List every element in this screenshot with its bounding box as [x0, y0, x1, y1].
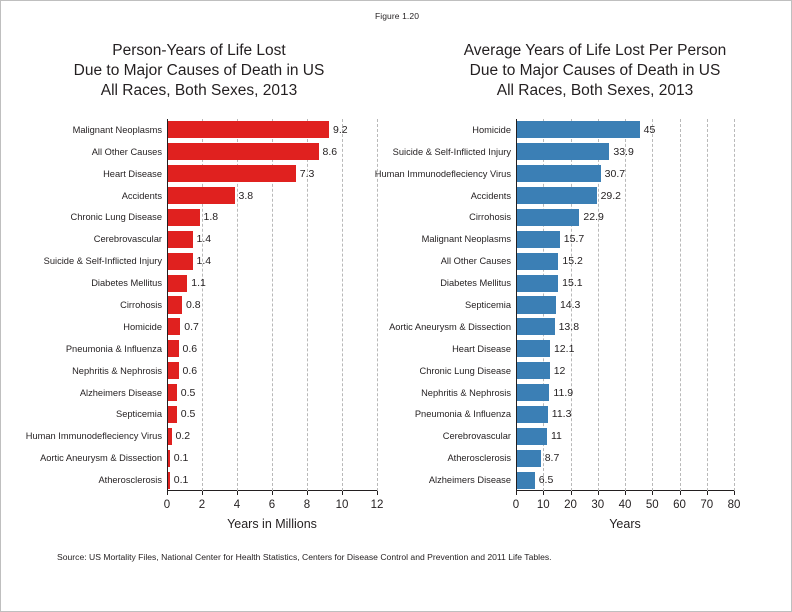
bar[interactable] — [168, 121, 329, 138]
category-label: Suicide & Self-Inflicted Injury — [393, 147, 511, 157]
bar-row[interactable]: Chronic Lung Disease1.8 — [167, 209, 377, 226]
bar[interactable] — [517, 253, 558, 270]
bar-row[interactable]: Suicide & Self-Inflicted Injury1.4 — [167, 253, 377, 270]
chart-title-left: Person-Years of Life Lost Due to Major C… — [1, 41, 397, 101]
category-label: Aortic Aneurysm & Dissection — [389, 322, 511, 332]
bar-value-label: 6.5 — [535, 474, 554, 486]
bar-value-label: 0.5 — [177, 408, 196, 420]
bar-value-label: 0.2 — [172, 430, 191, 442]
bar-value-label: 8.7 — [541, 452, 560, 464]
x-axis-tick-right — [516, 491, 517, 495]
bar-row[interactable]: Suicide & Self-Inflicted Injury33.9 — [516, 143, 734, 160]
x-axis-tick-label-right: 60 — [673, 499, 686, 511]
bar-value-label: 0.7 — [180, 321, 199, 333]
bar-row[interactable]: Cerebrovascular1.4 — [167, 231, 377, 248]
bar[interactable] — [517, 275, 558, 292]
category-label: Cirrohosis — [120, 300, 162, 310]
bar-row[interactable]: Pneumonia & Influenza0.6 — [167, 340, 377, 357]
bar[interactable] — [517, 362, 550, 379]
category-label: Heart Disease — [452, 344, 511, 354]
x-axis-tick-label-left: 12 — [371, 499, 384, 511]
chart-panel-average-years: Average Years of Life Lost Per Person Du… — [397, 41, 792, 541]
bar-row[interactable]: Human Immunodefleciency Virus30.7 — [516, 165, 734, 182]
bar-row[interactable]: Alzheimers Disease6.5 — [516, 472, 734, 489]
bar-row[interactable]: Heart Disease7.3 — [167, 165, 377, 182]
category-label: Septicemia — [116, 409, 162, 419]
bar-row[interactable]: Accidents3.8 — [167, 187, 377, 204]
bar-value-label: 1.4 — [193, 233, 212, 245]
bar[interactable] — [517, 384, 549, 401]
category-label: Alzheimers Disease — [80, 388, 162, 398]
bar-value-label: 14.3 — [556, 299, 580, 311]
category-label: Cirrohosis — [469, 212, 511, 222]
bar-value-label: 12 — [550, 365, 566, 377]
bar[interactable] — [168, 209, 200, 226]
x-axis-tick-right — [543, 491, 544, 495]
x-axis-title-left: Years in Millions — [167, 517, 377, 531]
bar[interactable] — [168, 340, 179, 357]
category-label: Atherosclerosis — [447, 453, 511, 463]
bar[interactable] — [168, 253, 193, 270]
bar-row[interactable]: Homicide45 — [516, 121, 734, 138]
bar-row[interactable]: Accidents29.2 — [516, 187, 734, 204]
category-label: Accidents — [471, 191, 511, 201]
bar-value-label: 15.2 — [558, 255, 582, 267]
bar-value-label: 9.2 — [329, 124, 348, 136]
category-label: Homicide — [472, 125, 511, 135]
bar-value-label: 22.9 — [579, 211, 603, 223]
bar[interactable] — [517, 450, 541, 467]
x-axis-tick-label-left: 10 — [336, 499, 349, 511]
bar-row[interactable]: Diabetes Mellitus15.1 — [516, 275, 734, 292]
category-label: Malignant Neoplasms — [422, 234, 511, 244]
bar-value-label: 0.1 — [170, 452, 189, 464]
bar-row[interactable]: Chronic Lung Disease12 — [516, 362, 734, 379]
bar-row[interactable]: Aortic Aneurysm & Dissection0.1 — [167, 450, 377, 467]
bar-value-label: 8.6 — [319, 146, 338, 158]
x-axis-tick-right — [571, 491, 572, 495]
source-note: Source: US Mortality Files, National Cen… — [57, 552, 552, 562]
category-label: Atherosclerosis — [98, 475, 162, 485]
figure-number-label: Figure 1.20 — [1, 11, 792, 21]
category-label: Diabetes Mellitus — [440, 278, 511, 288]
gridline — [734, 119, 735, 491]
bar-row[interactable]: Septicemia14.3 — [516, 296, 734, 313]
bar-value-label: 0.5 — [177, 387, 196, 399]
x-axis-tick-label-right: 0 — [513, 499, 519, 511]
category-label: Septicemia — [465, 300, 511, 310]
x-axis-tick-label-right: 40 — [619, 499, 632, 511]
category-label: Accidents — [122, 191, 162, 201]
x-axis-tick-right — [734, 491, 735, 495]
bar[interactable] — [168, 296, 182, 313]
bar-row[interactable]: Aortic Aneurysm & Dissection13.8 — [516, 318, 734, 335]
x-axis-tick-label-left: 6 — [269, 499, 275, 511]
bar-value-label: 11.9 — [549, 387, 573, 399]
bar[interactable] — [168, 143, 319, 160]
bar-row[interactable]: Homicide0.7 — [167, 318, 377, 335]
bar-value-label: 1.1 — [187, 277, 206, 289]
bar[interactable] — [517, 187, 597, 204]
bar-value-label: 0.6 — [179, 365, 198, 377]
bar-value-label: 33.9 — [609, 146, 633, 158]
category-label: Human Immunodefleciency Virus — [26, 431, 162, 441]
bar[interactable] — [168, 231, 193, 248]
bar-row[interactable]: Septicemia0.5 — [167, 406, 377, 423]
x-axis-tick-left — [342, 491, 343, 495]
x-axis-tick-left — [272, 491, 273, 495]
category-label: Homicide — [123, 322, 162, 332]
x-axis-tick-label-left: 4 — [234, 499, 240, 511]
bar[interactable] — [517, 209, 579, 226]
bar[interactable] — [168, 165, 296, 182]
bar-value-label: 0.8 — [182, 299, 201, 311]
bar-row[interactable]: Malignant Neoplasms9.2 — [167, 121, 377, 138]
x-axis-tick-label-left: 8 — [304, 499, 310, 511]
x-axis-tick-left — [237, 491, 238, 495]
bar-value-label: 30.7 — [601, 168, 625, 180]
x-axis-tick-right — [680, 491, 681, 495]
bar-value-label: 7.3 — [296, 168, 315, 180]
category-label: Diabetes Mellitus — [91, 278, 162, 288]
bar[interactable] — [517, 340, 550, 357]
chart-panel-person-years: Person-Years of Life Lost Due to Major C… — [1, 41, 397, 541]
bar[interactable] — [517, 143, 609, 160]
x-axis-tick-left — [167, 491, 168, 495]
bar[interactable] — [168, 275, 187, 292]
x-axis-tick-right — [625, 491, 626, 495]
x-axis-tick-right — [707, 491, 708, 495]
bar-row[interactable]: Nephritis & Nephrosis11.9 — [516, 384, 734, 401]
bar[interactable] — [517, 318, 555, 335]
bar-value-label: 29.2 — [597, 190, 621, 202]
bar-row[interactable]: Cirrohosis22.9 — [516, 209, 734, 226]
category-label: Nephritis & Nephrosis — [421, 388, 511, 398]
bar[interactable] — [168, 362, 179, 379]
bar-row[interactable]: Atherosclerosis8.7 — [516, 450, 734, 467]
bar[interactable] — [517, 296, 556, 313]
bar[interactable] — [168, 384, 177, 401]
bar-row[interactable]: Cirrohosis0.8 — [167, 296, 377, 313]
x-axis-tick-label-left: 2 — [199, 499, 205, 511]
category-label: Heart Disease — [103, 169, 162, 179]
bar-value-label: 15.7 — [560, 233, 584, 245]
bar-row[interactable]: Diabetes Mellitus1.1 — [167, 275, 377, 292]
bar[interactable] — [517, 472, 535, 489]
bar-row[interactable]: Alzheimers Disease0.5 — [167, 384, 377, 401]
category-label: Chronic Lung Disease — [71, 212, 162, 222]
x-axis-tick-label-right: 50 — [646, 499, 659, 511]
bar-value-label: 3.8 — [235, 190, 254, 202]
category-label: Alzheimers Disease — [429, 475, 511, 485]
category-label: Human Immunodefleciency Virus — [375, 169, 511, 179]
x-axis-tick-left — [377, 491, 378, 495]
bar-value-label: 11 — [547, 430, 562, 442]
bar-row[interactable]: Nephritis & Nephrosis0.6 — [167, 362, 377, 379]
category-label: All Other Causes — [92, 147, 162, 157]
bar[interactable] — [517, 165, 601, 182]
bar-row[interactable]: Heart Disease12.1 — [516, 340, 734, 357]
x-axis-tick-label-right: 20 — [564, 499, 577, 511]
bar[interactable] — [517, 428, 547, 445]
category-label: Suicide & Self-Inflicted Injury — [44, 256, 162, 266]
category-label: Cerebrovascular — [443, 431, 511, 441]
bar-row[interactable]: Malignant Neoplasms15.7 — [516, 231, 734, 248]
x-axis-title-right: Years — [516, 517, 734, 531]
bar[interactable] — [168, 187, 235, 204]
bar[interactable] — [517, 121, 640, 138]
chart-title-right: Average Years of Life Lost Per Person Du… — [397, 41, 792, 101]
category-label: Chronic Lung Disease — [420, 366, 511, 376]
x-axis-tick-label-right: 70 — [700, 499, 713, 511]
bar-value-label: 1.4 — [193, 255, 212, 267]
bar[interactable] — [517, 231, 560, 248]
bar-row[interactable]: Pneumonia & Influenza11.3 — [516, 406, 734, 423]
bar-row[interactable]: Cerebrovascular11 — [516, 428, 734, 445]
bar-row[interactable]: All Other Causes8.6 — [167, 143, 377, 160]
category-label: Cerebrovascular — [94, 234, 162, 244]
x-axis-tick-label-right: 10 — [537, 499, 550, 511]
category-label: All Other Causes — [441, 256, 511, 266]
bar-value-label: 1.8 — [200, 211, 219, 223]
category-label: Aortic Aneurysm & Dissection — [40, 453, 162, 463]
bar-row[interactable]: All Other Causes15.2 — [516, 253, 734, 270]
bar[interactable] — [517, 406, 548, 423]
bar-value-label: 0.1 — [170, 474, 189, 486]
bar[interactable] — [168, 318, 180, 335]
bar-value-label: 0.6 — [179, 343, 198, 355]
x-axis-tick-left — [307, 491, 308, 495]
bar[interactable] — [168, 406, 177, 423]
bar-value-label: 11.3 — [548, 408, 572, 420]
bar-value-label: 15.1 — [558, 277, 582, 289]
plot-area-right: Years 01020304050607080Homicide45Suicide… — [516, 119, 734, 491]
x-axis-tick-right — [598, 491, 599, 495]
bar-value-label: 45 — [640, 124, 656, 136]
x-axis-tick-label-right: 30 — [591, 499, 604, 511]
x-axis-tick-right — [652, 491, 653, 495]
category-label: Malignant Neoplasms — [73, 125, 162, 135]
category-label: Pneumonia & Influenza — [415, 409, 511, 419]
x-axis-tick-label-right: 80 — [728, 499, 741, 511]
bar-value-label: 13.8 — [555, 321, 579, 333]
bar-row[interactable]: Human Immunodefleciency Virus0.2 — [167, 428, 377, 445]
bar-row[interactable]: Atherosclerosis0.1 — [167, 472, 377, 489]
bar-value-label: 12.1 — [550, 343, 574, 355]
category-label: Pneumonia & Influenza — [66, 344, 162, 354]
x-axis-tick-left — [202, 491, 203, 495]
plot-area-left: Years in Millions 024681012Malignant Neo… — [167, 119, 377, 491]
figure-page: Figure 1.20 Person-Years of Life Lost Du… — [0, 0, 792, 612]
category-label: Nephritis & Nephrosis — [72, 366, 162, 376]
x-axis-tick-label-left: 0 — [164, 499, 170, 511]
